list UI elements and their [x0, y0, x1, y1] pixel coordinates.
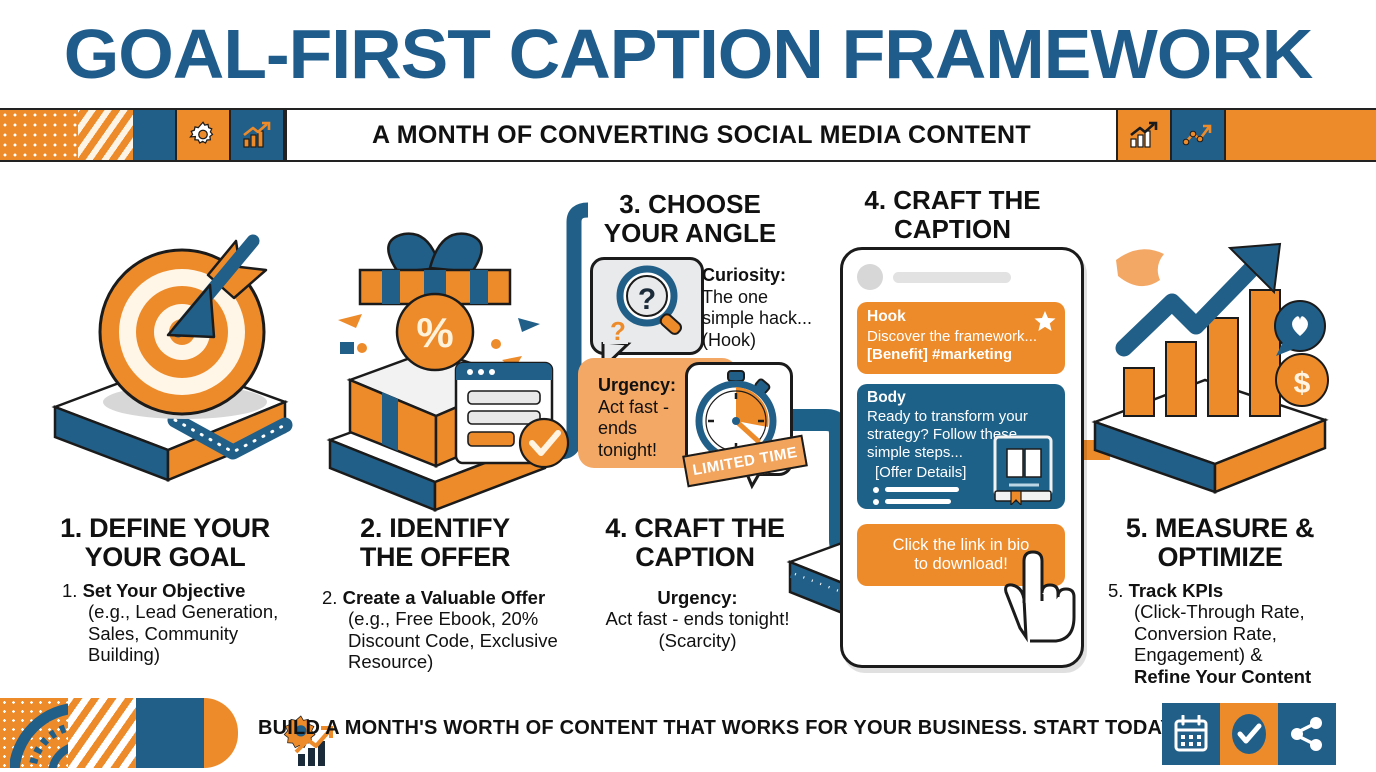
footer-tagline: BUILD A MONTH'S WORTH OF CONTENT THAT WO…: [258, 717, 1177, 740]
page-title: GOAL-FIRST CAPTION FRAMEWORK: [64, 14, 1313, 94]
share-icon: [1278, 703, 1336, 765]
growth-bar-chart-icon: $: [1108, 240, 1338, 430]
step-2-heading: 2. IDENTIFY THE OFFER: [315, 514, 555, 572]
section3-heading-line2: YOUR ANGLE: [580, 219, 800, 248]
magnifier-question-icon: ? ?: [593, 260, 695, 346]
step-4-sub-line1: Act fast - ends tonight!: [605, 608, 789, 629]
urgency-line3: tonight!: [598, 440, 657, 460]
bar-chart-growth-icon: [1118, 110, 1172, 160]
stripe-pattern-decoration: [68, 698, 136, 768]
avatar: [857, 264, 883, 290]
bullet-line: [885, 487, 959, 492]
body-line1: Ready to transform your: [867, 408, 1028, 426]
step-1-detail: (e.g., Lead Generation, Sales, Community…: [62, 601, 297, 665]
curiosity-line1: The one: [702, 287, 768, 307]
bullet-dot: [873, 487, 879, 493]
blue-block-decoration: [133, 110, 175, 160]
book-icon: [989, 433, 1059, 505]
svg-text:$: $: [1294, 367, 1311, 400]
step-1-heading-line2: YOUR GOAL: [30, 543, 300, 572]
main-content: % 3. CHOOSE YOUR ANGLE ? ?: [0, 162, 1376, 690]
curiosity-line3: (Hook): [702, 330, 756, 350]
step-5-body: 5. Track KPIs (Click-Through Rate, Conve…: [1108, 580, 1323, 687]
body-card[interactable]: Body Ready to transform your strategy? F…: [857, 384, 1065, 509]
step-5-detail: (Click-Through Rate, Conversion Rate, En…: [1108, 601, 1323, 665]
dot-pattern-decoration: [0, 110, 78, 160]
curiosity-bubble: ? ?: [590, 257, 704, 355]
step-4-sub-bold: Urgency:: [657, 587, 737, 608]
section3-heading: 3. CHOOSE YOUR ANGLE: [580, 190, 800, 247]
step-5-heading-line1: 5. MEASURE &: [1095, 514, 1345, 543]
step-5-number: 5.: [1108, 580, 1123, 601]
step-4-heading-line2: CAPTION: [580, 543, 810, 572]
urgency-line2: ends: [598, 418, 637, 438]
section4-heading-line2: CAPTION: [845, 215, 1060, 244]
body-label: Body: [867, 389, 906, 407]
hand-cursor-icon: [1000, 547, 1084, 647]
curiosity-label: Curiosity:: [702, 265, 786, 285]
title-area: GOAL-FIRST CAPTION FRAMEWORK: [0, 0, 1376, 108]
username-placeholder-bar: [893, 272, 1011, 283]
offer-details-text: [Offer Details]: [875, 464, 966, 482]
orange-cap-decoration: [204, 698, 238, 768]
step-1-number: 1.: [62, 580, 77, 601]
infographic-page: GOAL-FIRST CAPTION FRAMEWORK A MONTH OF …: [0, 0, 1376, 768]
hook-label: Hook: [867, 308, 906, 326]
star-icon: [1033, 309, 1057, 333]
step-2-number: 2.: [322, 587, 337, 608]
section4-heading-line1: 4. CRAFT THE: [845, 186, 1060, 215]
step-1-body: 1. Set Your Objective (e.g., Lead Genera…: [62, 580, 297, 666]
header-band: A MONTH OF CONVERTING SOCIAL MEDIA CONTE…: [0, 108, 1376, 162]
bullet-line: [885, 499, 951, 504]
form-window-check-icon: [450, 357, 580, 472]
check-badge-icon: [1220, 703, 1278, 765]
step-5-bold-label: Track KPIs: [1129, 580, 1224, 601]
stripe-pattern-decoration: [78, 110, 133, 160]
bar-chart-growth-icon: [231, 110, 285, 160]
step-4-heading-line1: 4. CRAFT THE: [580, 514, 810, 543]
calendar-icon: [1162, 703, 1220, 765]
curiosity-line2: simple hack...: [702, 308, 812, 328]
header-banner-text: A MONTH OF CONVERTING SOCIAL MEDIA CONTE…: [372, 121, 1031, 150]
hook-line1: Discover the framework...: [867, 328, 1037, 346]
urgency-line1: Act fast -: [598, 397, 669, 417]
svg-text:%: %: [416, 309, 453, 356]
step-4-sub-line2: (Scarcity): [658, 630, 736, 651]
step-2-body: 2. Create a Valuable Offer (e.g., Free E…: [322, 587, 562, 673]
section4-heading: 4. CRAFT THE CAPTION: [845, 186, 1060, 243]
step-2-heading-line2: THE OFFER: [315, 543, 555, 572]
target-with-arrow-icon: [60, 227, 320, 427]
step-2-heading-line1: 2. IDENTIFY: [315, 514, 555, 543]
gear-icon: [175, 110, 231, 160]
step-5-heading: 5. MEASURE & OPTIMIZE: [1095, 514, 1345, 572]
step-5-detail-bold: Refine Your Content: [1108, 666, 1311, 687]
curiosity-text: Curiosity: The one simple hack... (Hook): [702, 265, 822, 351]
hook-card[interactable]: Hook Discover the framework... [Benefit]…: [857, 302, 1065, 374]
step-1-heading: 1. DEFINE YOUR YOUR GOAL: [30, 514, 300, 572]
hook-line2: [Benefit] #marketing: [867, 346, 1012, 364]
step-2-bold-label: Create a Valuable Offer: [343, 587, 546, 608]
footer-logo-block: [136, 698, 204, 768]
header-banner: A MONTH OF CONVERTING SOCIAL MEDIA CONTE…: [285, 110, 1118, 160]
body-line3: simple steps...: [867, 444, 963, 462]
orange-tail-decoration: [1226, 110, 1376, 160]
step-2-detail: (e.g., Free Ebook, 20% Discount Code, Ex…: [322, 608, 562, 672]
svg-text:?: ?: [638, 283, 656, 316]
step-4-body: Urgency: Act fast - ends tonight! (Scarc…: [580, 587, 815, 651]
step-5-heading-line2: OPTIMIZE: [1095, 543, 1345, 572]
step-1-bold-label: Set Your Objective: [83, 580, 246, 601]
step-1-heading-line1: 1. DEFINE YOUR: [30, 514, 300, 543]
line-chart-arrow-icon: [1172, 110, 1226, 160]
urgency-label: Urgency:: [598, 375, 676, 395]
step-4-heading: 4. CRAFT THE CAPTION: [580, 514, 810, 572]
bullet-dot: [873, 499, 879, 505]
section3-heading-line1: 3. CHOOSE: [580, 190, 800, 219]
